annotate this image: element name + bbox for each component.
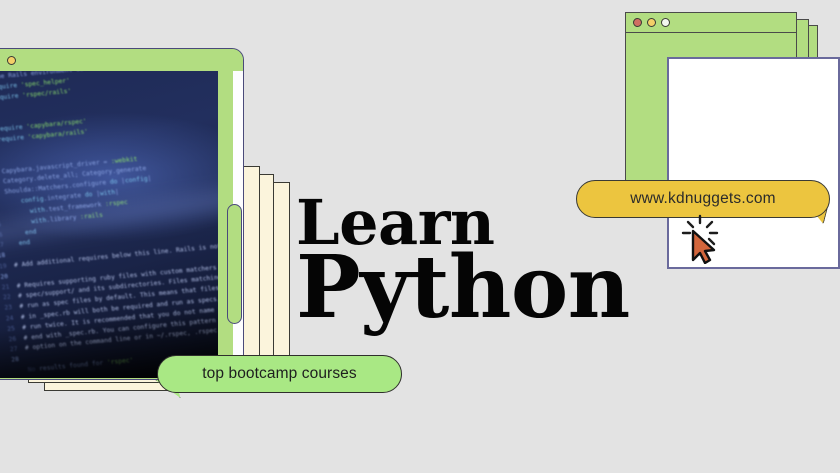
mouse-cursor-icon	[680, 214, 724, 264]
page-title-line-2: Python	[296, 251, 630, 325]
minimize-dot-yellow-icon[interactable]	[7, 56, 16, 65]
maximize-dot-clear-icon[interactable]	[661, 18, 670, 27]
minimize-dot-yellow-icon[interactable]	[647, 18, 656, 27]
page-title: Learn Python	[296, 196, 630, 325]
code-editor-window[interactable]: 1 The Rails environment is running in pr…	[0, 48, 244, 380]
tag-bubble-label: top bootcamp courses	[202, 365, 357, 383]
close-dot-red-icon[interactable]	[633, 18, 642, 27]
banner-canvas: 1 The Rails environment is running in pr…	[0, 0, 840, 473]
url-bubble[interactable]: www.kdnuggets.com	[576, 180, 830, 218]
scrollbar-thumb[interactable]	[227, 204, 242, 324]
browser-titlebar	[626, 13, 796, 33]
code-window-titlebar	[0, 49, 243, 71]
url-bubble-label: www.kdnuggets.com	[630, 190, 776, 208]
code-editor-screen: 1 The Rails environment is running in pr…	[0, 71, 218, 378]
tag-bubble[interactable]: top bootcamp courses	[157, 355, 402, 393]
